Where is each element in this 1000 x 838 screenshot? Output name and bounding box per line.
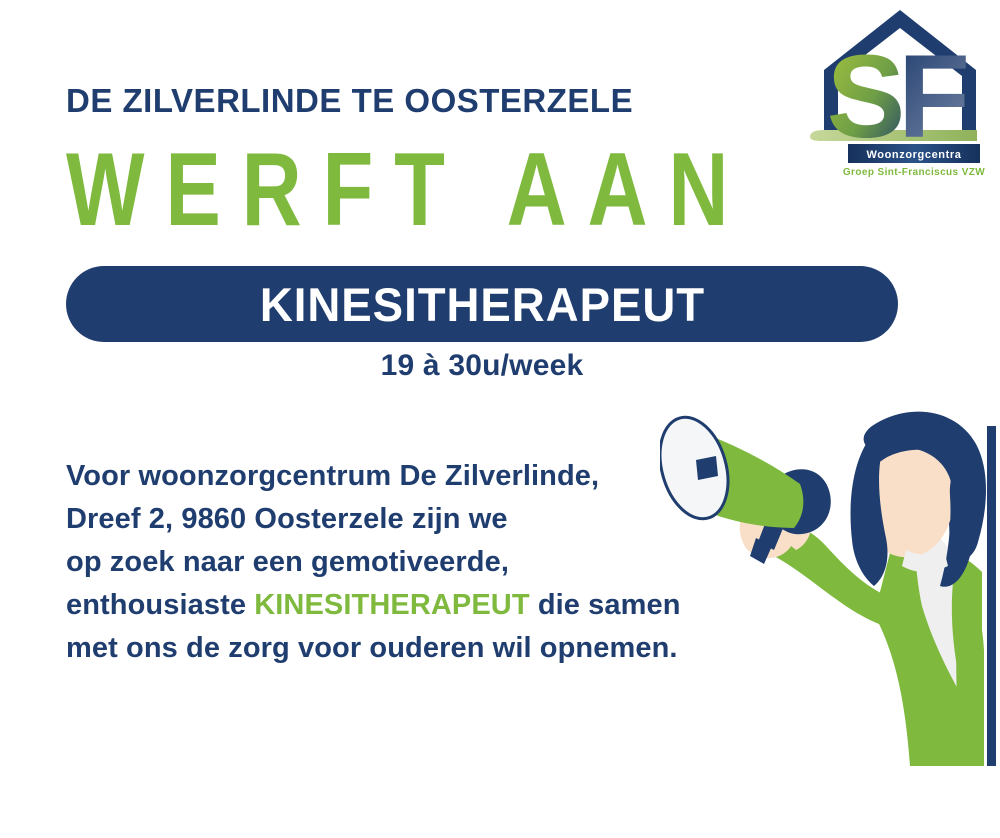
white-shirt <box>915 520 964 700</box>
woman-ear <box>943 491 961 517</box>
logo-tagline-line2: Groep Sint-Franciscus VZW <box>843 167 985 178</box>
description-line-4-pre: enthousiaste <box>66 589 254 621</box>
description-line-2: Dreef 2, 9860 Oosterzele zijn we <box>66 498 766 541</box>
description-line-4: enthousiaste KINESITHERAPEUT die samen <box>66 584 766 627</box>
description-line-3: op zoek naar een gemotiveerde, <box>66 541 766 584</box>
logo-letter-f: F <box>898 31 970 163</box>
navy-vertical-bar <box>987 426 996 766</box>
job-description: Voor woonzorgcentrum De Zilverlinde, Dre… <box>66 455 766 670</box>
job-title-banner: KINESITHERAPEUT <box>66 266 898 342</box>
description-highlight-role: KINESITHERAPEUT <box>254 589 529 621</box>
woman-hair-back <box>864 412 986 562</box>
coat-right-panel <box>956 568 984 766</box>
woman-face <box>864 448 954 558</box>
description-line-4-post: die samen <box>530 589 681 621</box>
megaphone-neck <box>770 469 831 534</box>
woman-hair-front <box>851 418 977 587</box>
shirt-collar <box>902 550 948 572</box>
headline-werft-aan: WERFT AAN <box>66 138 749 242</box>
green-sleeve-arm <box>765 523 918 636</box>
woman-body <box>874 520 984 766</box>
job-title-label: KINESITHERAPEUT <box>259 277 704 332</box>
job-hours-label: 19 à 30u/week <box>66 349 898 383</box>
company-logo: S F Woonzorgcentra Groep Sint-Franciscus… <box>802 2 998 184</box>
kicker-text: DE ZILVERLINDE TE OOSTERZELE <box>66 84 633 117</box>
coat-body <box>874 532 982 766</box>
description-line-1: Voor woonzorgcentrum De Zilverlinde, <box>66 455 766 498</box>
logo-tagline-line1: Woonzorgcentra <box>867 149 962 161</box>
description-line-5: met ons de zorg voor ouderen wil opnemen… <box>66 627 766 670</box>
job-vacancy-poster: S F Woonzorgcentra Groep Sint-Franciscus… <box>0 0 1000 838</box>
logo-letter-s: S <box>827 31 906 163</box>
